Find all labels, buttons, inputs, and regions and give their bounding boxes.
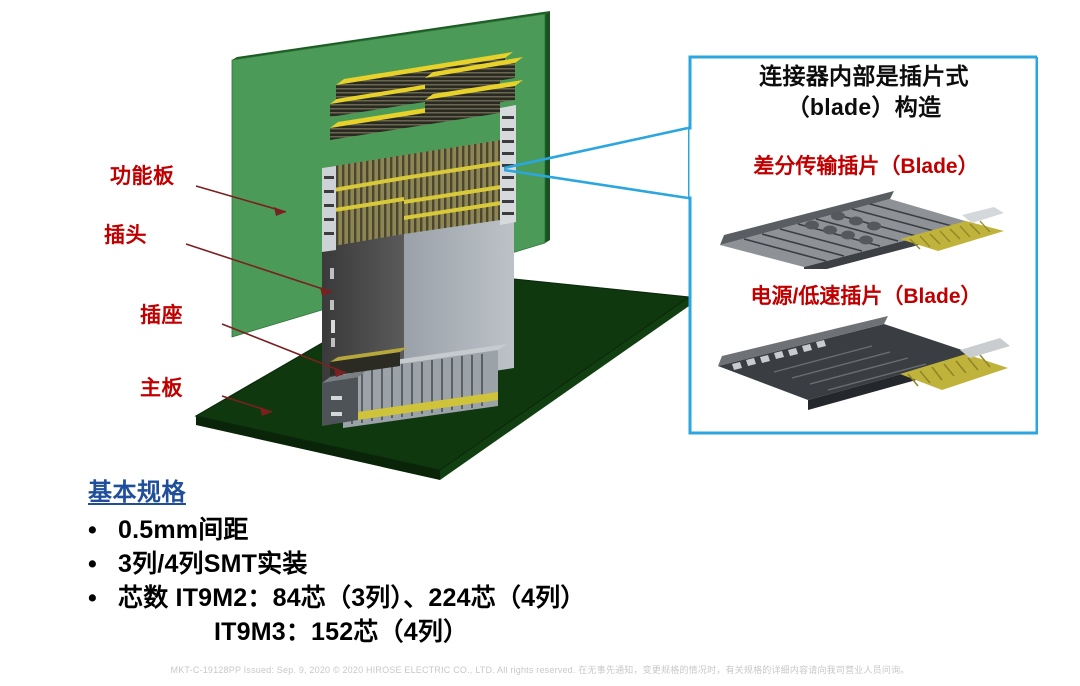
label-plug: 插头 <box>104 225 147 246</box>
bullet-icon: • <box>88 581 118 615</box>
spec-item-contact-count: • 芯数 IT9M2：84芯（3列）、224芯（4列） <box>88 581 728 615</box>
callout-content: 连接器内部是插片式 （blade）构造 差分传输插片（Blade） <box>688 55 1038 435</box>
spec-item-mounting: • 3列/4列SMT实装 <box>88 547 728 581</box>
illustration-svg <box>0 0 700 530</box>
callout-title-line-1: 连接器内部是插片式 <box>702 61 1026 92</box>
callout-title-line-2: （blade）构造 <box>702 92 1026 123</box>
blade-callout-panel: 连接器内部是插片式 （blade）构造 差分传输插片（Blade） <box>688 55 1038 435</box>
spec-item-text: 芯数 IT9M2：84芯（3列）、224芯（4列） <box>118 581 728 615</box>
spec-item-pitch: • 0.5mm间距 <box>88 513 728 547</box>
spec-subline-it9m3: IT9M3：152芯（4列） <box>88 615 728 649</box>
bullet-icon: • <box>88 513 118 547</box>
bullet-icon: • <box>88 547 118 581</box>
connector-assembly-illustration <box>0 0 700 530</box>
power-lowspeed-blade-photo <box>704 310 1022 414</box>
footer-legal-text: MKT-C-19128PP Issued: Sep. 9, 2020 © 202… <box>0 663 1080 676</box>
spec-heading: 基本规格 <box>88 472 186 507</box>
differential-transmission-blade-photo <box>704 183 1022 269</box>
label-function-board: 功能板 <box>110 166 175 187</box>
blade-title-power-lowspeed: 电源/低速插片（Blade） <box>696 280 1036 310</box>
blade-body-power <box>718 316 974 410</box>
callout-title: 连接器内部是插片式 （blade）构造 <box>702 61 1026 122</box>
label-motherboard: 主板 <box>140 378 183 399</box>
blade-title-differential: 差分传输插片（Blade） <box>696 150 1036 180</box>
spec-item-text: 0.5mm间距 <box>118 513 728 547</box>
label-receptacle: 插座 <box>140 305 183 326</box>
spec-item-text: 3列/4列SMT实装 <box>118 547 728 581</box>
slide-canvas: 功能板 插头 插座 主板 连接器内部是插片式 （blade）构造 差分传输插片（… <box>0 0 1080 686</box>
spec-list: • 0.5mm间距 • 3列/4列SMT实装 • 芯数 IT9M2：84芯（3列… <box>88 513 728 615</box>
basic-spec-block: 基本规格 • 0.5mm间距 • 3列/4列SMT实装 • 芯数 IT9M2：8… <box>88 472 728 649</box>
